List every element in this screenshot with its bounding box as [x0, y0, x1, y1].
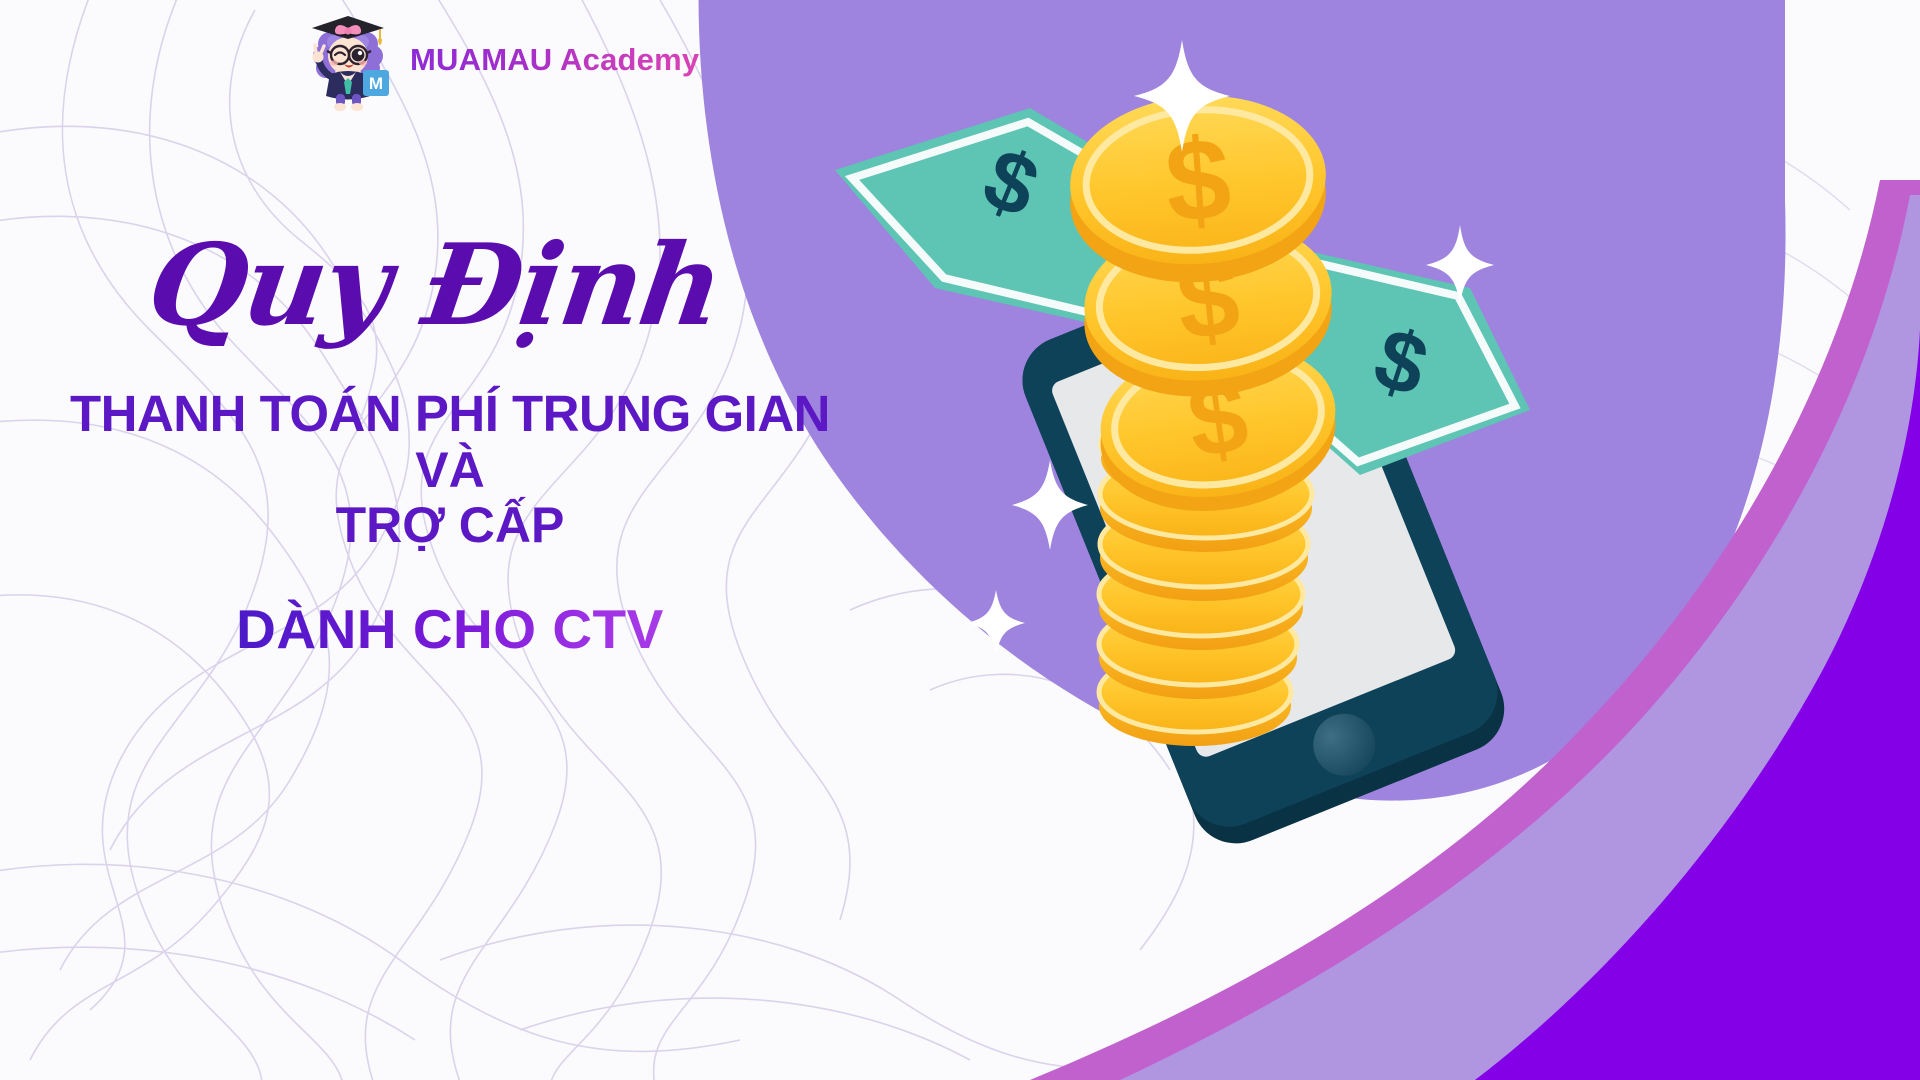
muamau-owl-graduate-mascot-icon: M — [300, 8, 396, 112]
headline-line-4: DÀNH CHO CTV — [236, 597, 664, 661]
brand-logo[interactable]: M MUAMAU Academy — [300, 8, 699, 112]
mascot-badge-letter: M — [369, 74, 383, 93]
brand-logo-text: MUAMAU Academy — [410, 42, 699, 78]
headline-line-1: THANH TOÁN PHÍ TRUNG GIAN — [0, 388, 900, 440]
headline-line-3: TRỢ CẤP — [0, 499, 900, 552]
money-phone-illustration: $ $ — [930, 30, 1550, 840]
poster-canvas: M MUAMAU Academy Quy Định THANH TOÁN PHÍ… — [0, 0, 1920, 1080]
headline-block: Quy Định THANH TOÁN PHÍ TRUNG GIAN VÀ TR… — [0, 230, 900, 661]
coin-dollar-symbol: $ — [1161, 113, 1234, 247]
script-title: Quy Định — [0, 230, 908, 342]
headline-line-2: VÀ — [0, 444, 900, 497]
sparkle-star — [967, 590, 1025, 656]
